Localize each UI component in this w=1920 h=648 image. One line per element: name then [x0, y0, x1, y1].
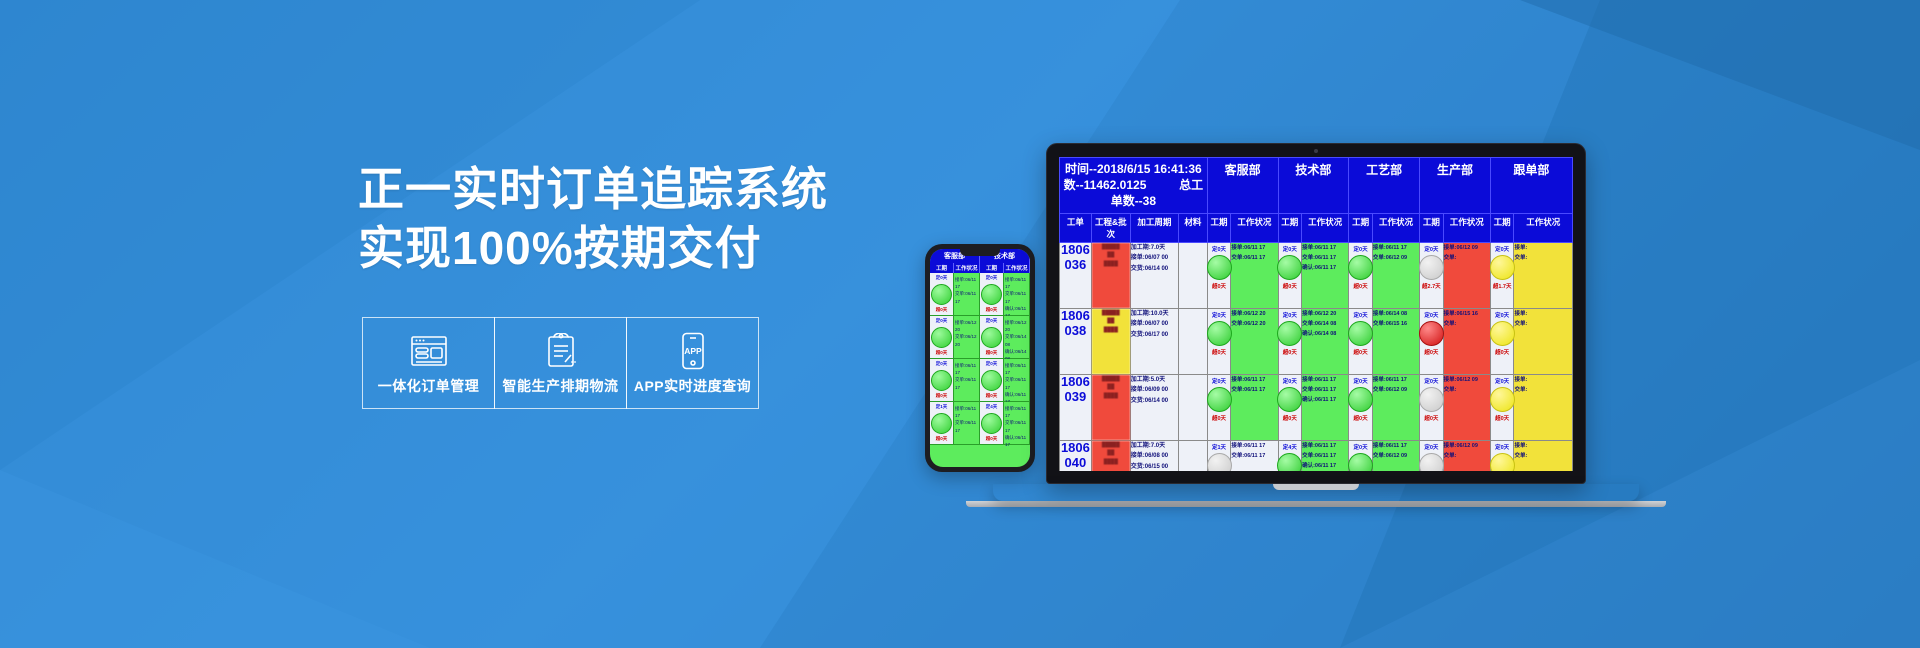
cell-duration-技术部: 定4天超0天 [1278, 440, 1302, 471]
phone-over-days: 超0天 [936, 350, 948, 356]
screen-meta: 时间--2018/6/15 16:41:36 数--11462.0125 总工单… [1060, 158, 1208, 214]
col-project-batch: 工程&批次 [1091, 213, 1130, 242]
cell-material [1179, 374, 1208, 440]
status-indicator-red [1419, 321, 1444, 346]
laptop-screen: 时间--2018/6/15 16:41:36 数--11462.0125 总工单… [1059, 157, 1573, 471]
over-days-label: 超0天 [1354, 348, 1368, 356]
col-processing-cycle: 加工周期 [1130, 213, 1178, 242]
over-days-label: 超2.7天 [1422, 282, 1441, 290]
order-management-icon [410, 330, 448, 372]
dept-header-production: 生产部 [1420, 158, 1491, 214]
phone-over-days: 超0天 [936, 307, 948, 313]
over-days-label: 超0天 [1212, 282, 1226, 290]
over-days-label: 超0天 [1354, 282, 1368, 290]
cell-status-技术部: 接单:06/11 17交单:06/11 17确认:06/11 17 [1302, 242, 1349, 308]
cell-duration-跟单部: 定0天超0天 [1490, 374, 1514, 440]
cell-duration-技术部: 定0天超0天 [1278, 374, 1302, 440]
cell-status-工艺部: 接单:06/11 17交单:06/12 09 [1372, 374, 1419, 440]
cell-duration-工艺部: 定0天超0天 [1349, 308, 1373, 374]
phone-notch [960, 249, 1000, 256]
status-indicator-green [931, 370, 952, 391]
feature-item-order-management[interactable]: 一体化订单管理 [362, 317, 495, 409]
status-indicator-green [931, 327, 952, 348]
phone-cell-duration-cs: 定0天超0天 [930, 316, 954, 358]
set-days-label: 定0天 [1495, 311, 1509, 319]
over-days-label: 超0天 [1354, 414, 1368, 422]
cell-duration-跟单部: 定0天超0天 [1490, 440, 1514, 471]
status-indicator-green [1207, 255, 1232, 280]
col-duration-cs: 工期 [1207, 213, 1231, 242]
cell-status-技术部: 接单:06/11 17交单:06/11 17确认:06/11 17 [1302, 440, 1349, 471]
col-status-followup: 工作状况 [1514, 213, 1573, 242]
set-days-label: 定0天 [1283, 245, 1297, 253]
feature-list: 一体化订单管理 智能生产排期物流 APP [363, 317, 759, 409]
page-title-line-1: 正一实时订单追踪系统 [358, 160, 878, 219]
set-days-label: 定0天 [1495, 377, 1509, 385]
cell-project-batch: ███████████ [1091, 440, 1130, 471]
phone-row-list: 定0天超0天接单:06/11 17交单:06/11 17定0天超0天接单:06/… [930, 273, 1030, 445]
meta-timestamp: 时间--2018/6/15 16:41:36 [1060, 161, 1207, 177]
set-days-label: 定0天 [1212, 311, 1226, 319]
phone-col-status-1: 工作状况 [954, 263, 980, 273]
col-status-process: 工作状况 [1372, 213, 1419, 242]
phone-over-days: 超0天 [936, 436, 948, 442]
over-days-label: 超0天 [1424, 414, 1438, 422]
status-indicator-green [1348, 387, 1373, 412]
phone-col-duration-1: 工期 [930, 263, 954, 273]
cell-status-客服部: 接单:06/11 17交单:06/11 17 [1231, 374, 1278, 440]
over-days-label: 超0天 [1495, 414, 1509, 422]
cell-project-batch: ███████████ [1091, 308, 1130, 374]
svg-text:APP: APP [684, 346, 702, 356]
phone-cell-duration-cs: 定0天超0天 [930, 359, 954, 401]
phone-set-days: 定0天 [936, 275, 948, 281]
status-indicator-green [1207, 387, 1232, 412]
cell-processing-cycle: 加工期:7.0天接单:06/08 00交货:06/15 00 [1130, 440, 1178, 471]
set-days-label: 定0天 [1354, 377, 1368, 385]
status-indicator-yellow [1490, 453, 1515, 471]
phone-cell-duration-tech: 定0天超0天 [980, 316, 1004, 358]
cell-duration-生产部: 定0天超2.7天 [1420, 242, 1444, 308]
feature-item-app-progress[interactable]: APP APP实时进度查询 [626, 317, 759, 409]
over-days-label: 超0天 [1283, 414, 1297, 422]
over-days-label: 超0天 [1283, 282, 1297, 290]
status-indicator-yellow [1490, 321, 1515, 346]
feature-item-production-schedule[interactable]: 智能生产排期物流 [494, 317, 627, 409]
phone-cell-status-tech: 接单:06/11 17交单:06/11 17确认:06/11 17 [1004, 273, 1030, 315]
dept-header-process: 工艺部 [1349, 158, 1420, 214]
col-duration-followup: 工期 [1490, 213, 1514, 242]
status-indicator-green [1348, 255, 1373, 280]
status-indicator-grey [1419, 453, 1444, 471]
status-indicator-green [1277, 321, 1302, 346]
cell-material [1179, 440, 1208, 471]
cell-status-技术部: 接单:06/11 17交单:06/11 17确认:06/11 17 [1302, 374, 1349, 440]
phone-cell-status-cs: 接单:06/12 20交单:06/12 20 [954, 316, 980, 358]
cell-processing-cycle: 加工期:5.0天接单:06/09 00交货:06/14 00 [1130, 374, 1178, 440]
order-row-list: 1806036███████████加工期:7.0天接单:06/07 00交货:… [1060, 242, 1573, 471]
over-days-label: 超0天 [1212, 348, 1226, 356]
phone-row[interactable]: 定0天超0天接单:06/12 20交单:06/12 20定0天超0天接单:06/… [930, 316, 1030, 359]
phone-cell-status-tech: 接单:06/11 17交单:06/11 17确认:06/11 17 [1004, 402, 1030, 444]
set-days-label: 定0天 [1283, 311, 1297, 319]
cell-material [1179, 308, 1208, 374]
status-indicator-green [931, 413, 952, 434]
phone-set-days: 定0天 [936, 361, 948, 367]
cell-work-order: 1806039 [1060, 374, 1092, 440]
cell-duration-客服部: 定0天超0天 [1207, 308, 1231, 374]
dept-header-followup: 跟单部 [1490, 158, 1572, 214]
over-days-label: 超0天 [1212, 414, 1226, 422]
col-duration-process: 工期 [1349, 213, 1373, 242]
phone-set-days: 定0天 [986, 361, 998, 367]
cell-status-生产部: 接单:06/12 09交单: [1443, 242, 1490, 308]
phone-set-days: 定0天 [986, 275, 998, 281]
cell-status-生产部: 接单:06/12 09交单: [1443, 374, 1490, 440]
table-row[interactable]: 1806039███████████加工期:5.0天接单:06/09 00交货:… [1060, 374, 1573, 440]
cell-status-客服部: 接单:06/11 17交单:06/11 17 [1231, 440, 1278, 471]
status-indicator-green [981, 327, 1002, 348]
phone-col-duration-2: 工期 [980, 263, 1004, 273]
laptop-mockup: 时间--2018/6/15 16:41:36 数--11462.0125 总工单… [1046, 143, 1586, 507]
status-indicator-green [1277, 255, 1302, 280]
cell-duration-生产部: 定0天超0天 [1420, 374, 1444, 440]
status-indicator-grey [1419, 387, 1444, 412]
set-days-label: 定0天 [1283, 377, 1297, 385]
status-indicator-green [1348, 321, 1373, 346]
cell-material [1179, 242, 1208, 308]
status-indicator-green [1207, 321, 1232, 346]
cell-status-生产部: 接单:06/12 09交单: [1443, 440, 1490, 471]
table-row[interactable]: 1806038███████████加工期:10.0天接单:06/07 00交货… [1060, 308, 1573, 374]
cell-duration-生产部: 定0天超0天 [1420, 308, 1444, 374]
cell-status-跟单部: 接单:交单: [1514, 374, 1573, 440]
dept-header-customer-service: 客服部 [1207, 158, 1278, 214]
hero-copy: 正一实时订单追踪系统 实现100%按期交付 [358, 160, 878, 278]
set-days-label: 定0天 [1354, 443, 1368, 451]
cell-duration-工艺部: 定0天超0天 [1349, 440, 1373, 471]
webcam-icon [1314, 149, 1318, 153]
phone-cell-status-tech: 接单:06/11 17交单:06/11 17确认:06/11 17 [1004, 359, 1030, 401]
cell-status-生产部: 接单:06/15 16交单: [1443, 308, 1490, 374]
cell-status-客服部: 接单:06/12 20交单:06/12 20 [1231, 308, 1278, 374]
phone-col-status-2: 工作状况 [1004, 263, 1030, 273]
col-status-prod: 工作状况 [1443, 213, 1490, 242]
col-duration-tech: 工期 [1278, 213, 1302, 242]
table-department-header-row: 时间--2018/6/15 16:41:36 数--11462.0125 总工单… [1060, 158, 1573, 214]
cell-status-客服部: 接单:06/11 17交单:06/11 17 [1231, 242, 1278, 308]
status-indicator-green [931, 284, 952, 305]
phone-over-days: 超0天 [936, 393, 948, 399]
phone-mockup: 客服部 技术部 工期 工作状况 工期 工作状况 定0天超0天接单:06/11 1… [925, 244, 1035, 472]
phone-over-days: 超0天 [986, 436, 998, 442]
meta-number: 数--11462.0125 [1064, 178, 1147, 192]
page-title-line-2: 实现100%按期交付 [358, 219, 878, 278]
cell-work-order: 1806040 [1060, 440, 1092, 471]
phone-over-days: 超0天 [986, 350, 998, 356]
status-indicator-green [1277, 387, 1302, 412]
set-days-label: 定0天 [1495, 245, 1509, 253]
cell-duration-技术部: 定0天超0天 [1278, 242, 1302, 308]
phone-over-days: 超0天 [986, 393, 998, 399]
cell-work-order: 1806036 [1060, 242, 1092, 308]
cell-status-工艺部: 接单:06/14 08交单:06/15 16 [1372, 308, 1419, 374]
set-days-label: 定0天 [1424, 311, 1438, 319]
phone-cell-duration-cs: 定1天超0天 [930, 402, 954, 444]
status-indicator-green [981, 413, 1002, 434]
cell-duration-技术部: 定0天超0天 [1278, 308, 1302, 374]
over-days-label: 超0天 [1283, 348, 1297, 356]
phone-row[interactable]: 定0天超0天接单:06/11 17交单:06/11 17定0天超0天接单:06/… [930, 359, 1030, 402]
phone-set-days: 定0天 [936, 318, 948, 324]
set-days-label: 定0天 [1354, 311, 1368, 319]
cell-status-工艺部: 接单:06/11 17交单:06/12 09 [1372, 242, 1419, 308]
set-days-label: 定1天 [1212, 443, 1226, 451]
dept-header-technical: 技术部 [1278, 158, 1349, 214]
status-indicator-grey [1207, 453, 1232, 471]
set-days-label: 定0天 [1424, 377, 1438, 385]
col-work-order: 工单 [1060, 213, 1092, 242]
col-status-cs: 工作状况 [1231, 213, 1278, 242]
cell-project-batch: ███████████ [1091, 374, 1130, 440]
status-indicator-green [981, 284, 1002, 305]
set-days-label: 定0天 [1424, 245, 1438, 253]
phone-cell-status-cs: 接单:06/11 17交单:06/11 17 [954, 359, 980, 401]
phone-over-days: 超0天 [986, 307, 998, 313]
cell-status-技术部: 接单:06/12 20交单:06/14 08确认:06/14 08 [1302, 308, 1349, 374]
phone-cell-duration-tech: 定0天超0天 [980, 273, 1004, 315]
laptop-foot [966, 501, 1666, 507]
cell-work-order: 1806038 [1060, 308, 1092, 374]
set-days-label: 定0天 [1495, 443, 1509, 451]
feature-label: APP实时进度查询 [634, 376, 751, 396]
status-indicator-green [1277, 453, 1302, 471]
phone-set-days: 定4天 [986, 404, 998, 410]
phone-cell-status-tech: 接单:06/12 20交单:06/14 08确认:06/14 08 [1004, 316, 1030, 358]
cell-duration-跟单部: 定0天超1.7天 [1490, 242, 1514, 308]
phone-row[interactable]: 定1天超0天接单:06/11 17交单:06/11 17定4天超0天接单:06/… [930, 402, 1030, 445]
feature-label: 一体化订单管理 [378, 376, 480, 396]
col-material: 材料 [1179, 213, 1208, 242]
set-days-label: 定0天 [1212, 377, 1226, 385]
over-days-label: 超0天 [1424, 348, 1438, 356]
cell-duration-工艺部: 定0天超0天 [1349, 374, 1373, 440]
mobile-app-icon: APP [680, 330, 706, 372]
phone-set-days: 定1天 [936, 404, 948, 410]
cell-duration-客服部: 定1天超0天 [1207, 440, 1231, 471]
status-indicator-yellow [1490, 387, 1515, 412]
table-subheader-row: 工单 工程&批次 加工周期 材料 工期 工作状况 工期 工作状况 工期 工作状况… [1060, 213, 1573, 242]
set-days-label: 定0天 [1212, 245, 1226, 253]
phone-screen: 客服部 技术部 工期 工作状况 工期 工作状况 定0天超0天接单:06/11 1… [930, 249, 1030, 467]
col-duration-prod: 工期 [1420, 213, 1444, 242]
clipboard-schedule-icon [545, 330, 577, 372]
phone-cell-duration-cs: 定0天超0天 [930, 273, 954, 315]
phone-cell-status-cs: 接单:06/11 17交单:06/11 17 [954, 273, 980, 315]
cell-status-工艺部: 接单:06/11 17交单:06/12 09 [1372, 440, 1419, 471]
status-indicator-green [981, 370, 1002, 391]
cell-duration-生产部: 定0天超0天 [1420, 440, 1444, 471]
phone-row[interactable]: 定0天超0天接单:06/11 17交单:06/11 17定0天超0天接单:06/… [930, 273, 1030, 316]
table-row[interactable]: 1806036███████████加工期:7.0天接单:06/07 00交货:… [1060, 242, 1573, 308]
cell-status-跟单部: 接单:交单: [1514, 308, 1573, 374]
phone-set-days: 定0天 [986, 318, 998, 324]
table-row[interactable]: 1806040███████████加工期:7.0天接单:06/08 00交货:… [1060, 440, 1573, 471]
cell-duration-跟单部: 定0天超0天 [1490, 308, 1514, 374]
status-indicator-grey [1419, 255, 1444, 280]
cell-duration-工艺部: 定0天超0天 [1349, 242, 1373, 308]
cell-status-跟单部: 接单:交单: [1514, 242, 1573, 308]
cell-status-跟单部: 接单:交单: [1514, 440, 1573, 471]
phone-cell-duration-tech: 定4天超0天 [980, 402, 1004, 444]
set-days-label: 定0天 [1354, 245, 1368, 253]
set-days-label: 定0天 [1424, 443, 1438, 451]
cell-processing-cycle: 加工期:7.0天接单:06/07 00交货:06/14 00 [1130, 242, 1178, 308]
laptop-base [993, 484, 1639, 501]
col-status-tech: 工作状况 [1302, 213, 1349, 242]
cell-project-batch: ███████████ [1091, 242, 1130, 308]
feature-label: 智能生产排期物流 [503, 376, 619, 396]
laptop-lid: 时间--2018/6/15 16:41:36 数--11462.0125 总工单… [1046, 143, 1586, 484]
set-days-label: 定4天 [1283, 443, 1297, 451]
over-days-label: 超0天 [1495, 348, 1509, 356]
status-indicator-yellow [1490, 255, 1515, 280]
phone-cell-duration-tech: 定0天超0天 [980, 359, 1004, 401]
status-indicator-green [1348, 453, 1373, 471]
order-tracking-table: 时间--2018/6/15 16:41:36 数--11462.0125 总工单… [1059, 157, 1573, 471]
over-days-label: 超1.7天 [1493, 282, 1512, 290]
phone-subheader: 工期 工作状况 工期 工作状况 [930, 263, 1030, 273]
cell-duration-客服部: 定0天超0天 [1207, 242, 1231, 308]
cell-processing-cycle: 加工期:10.0天接单:06/07 00交货:06/17 00 [1130, 308, 1178, 374]
cell-duration-客服部: 定0天超0天 [1207, 374, 1231, 440]
phone-cell-status-cs: 接单:06/11 17交单:06/11 17 [954, 402, 980, 444]
